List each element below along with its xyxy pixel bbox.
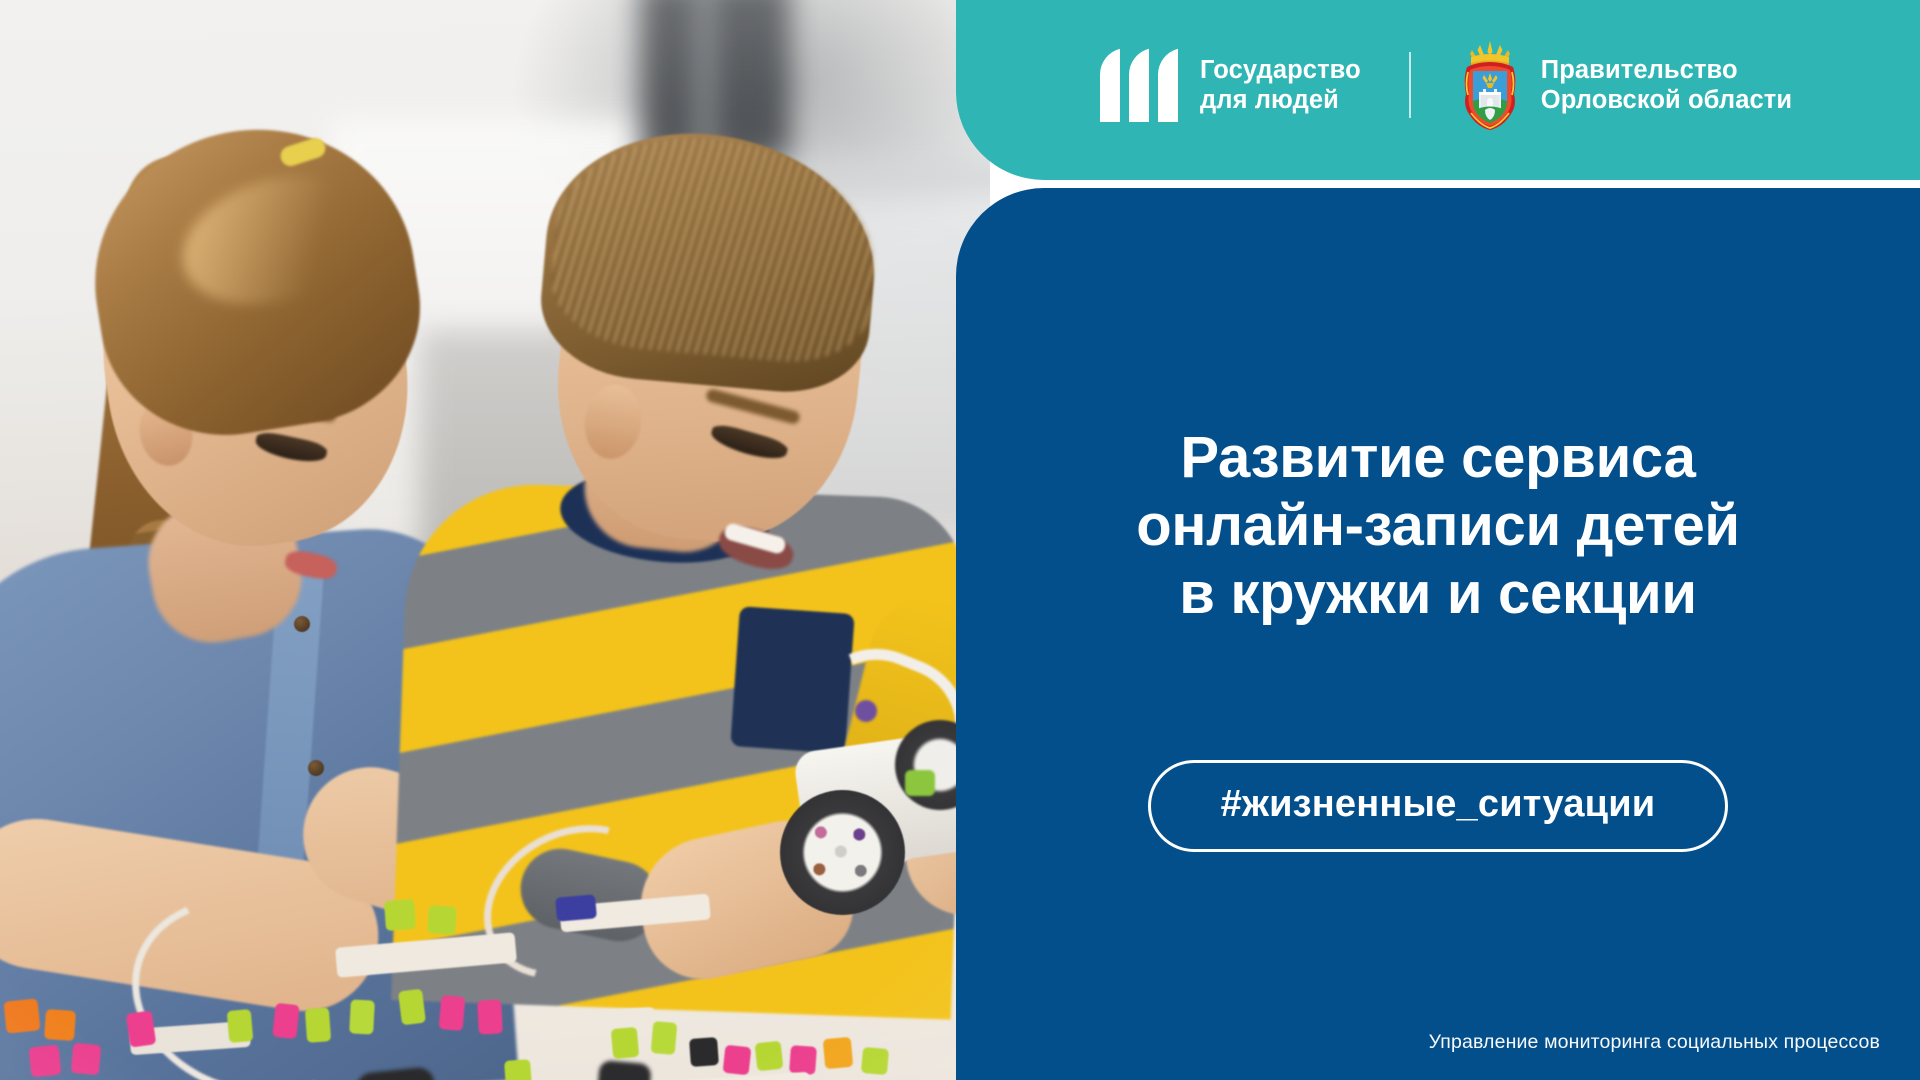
girl-shirt-button xyxy=(308,760,324,776)
desk-connector-green xyxy=(305,1007,331,1043)
girl-shirt-button xyxy=(294,616,310,632)
hashtag-container: #жизненные_ситуации xyxy=(956,760,1920,852)
page-title-line-3: в кружки и секции xyxy=(1002,560,1874,628)
desk-connector-green xyxy=(861,1047,889,1075)
oryol-oblast-coat-of-arms-icon xyxy=(1459,39,1521,131)
desk-connector-dark xyxy=(689,1037,719,1067)
hashtag-button[interactable]: #жизненные_ситуации xyxy=(1148,760,1729,852)
brand-government-label: Правительство Орловской области xyxy=(1541,55,1792,115)
robot-part-violet xyxy=(855,700,877,722)
desk-connector-pink xyxy=(789,1045,817,1075)
desk-component-blue xyxy=(555,894,597,921)
desk-connector-green xyxy=(349,999,375,1034)
brand-divider xyxy=(1409,52,1411,118)
gosuslugi-flag-icon xyxy=(1100,48,1178,122)
page-title: Развитие сервиса онлайн-записи детей в к… xyxy=(956,424,1920,628)
brand-gosuslugi: Государство для людей xyxy=(1100,48,1361,122)
footer-attribution: Управление мониторинга социальных процес… xyxy=(1429,1031,1880,1054)
page-title-line-2: онлайн-записи детей xyxy=(1002,492,1874,560)
desk-connector-pink xyxy=(272,1003,299,1039)
desk-connector-pink xyxy=(126,1010,156,1047)
brand-government: Правительство Орловской области xyxy=(1459,39,1792,131)
desk-connector-green xyxy=(611,1027,640,1059)
hero-photo xyxy=(0,0,990,1080)
desk-connector-pink xyxy=(71,1043,102,1075)
desk-connector-green xyxy=(227,1009,254,1043)
page-title-line-1: Развитие сервиса xyxy=(1002,424,1874,492)
desk-connector-green xyxy=(427,905,457,935)
promo-banner: Государство для людей xyxy=(0,0,1920,1080)
header-brand-row: Государство для людей xyxy=(1100,30,1792,140)
photo-background xyxy=(0,0,990,1080)
desk-connector-pink xyxy=(477,999,503,1034)
desk-connector-pink xyxy=(29,1045,62,1078)
desk-connector-green xyxy=(384,899,416,931)
robot-wheel-hub xyxy=(806,816,880,890)
desk-connector-orange xyxy=(3,998,40,1033)
desk-connector-orange xyxy=(44,1009,76,1041)
desk-connector-green xyxy=(504,1059,532,1080)
desk-connector-pink xyxy=(439,995,466,1031)
desk-connector-pink xyxy=(723,1045,752,1076)
desk-connector-green xyxy=(398,989,426,1026)
robot-part-green xyxy=(905,770,935,796)
desk-connector-green xyxy=(755,1041,784,1072)
content-panel xyxy=(956,188,1920,1080)
desk-connector-green xyxy=(651,1021,678,1055)
desk-connector-orange xyxy=(823,1037,854,1069)
brand-gosuslugi-label: Государство для людей xyxy=(1200,55,1361,115)
